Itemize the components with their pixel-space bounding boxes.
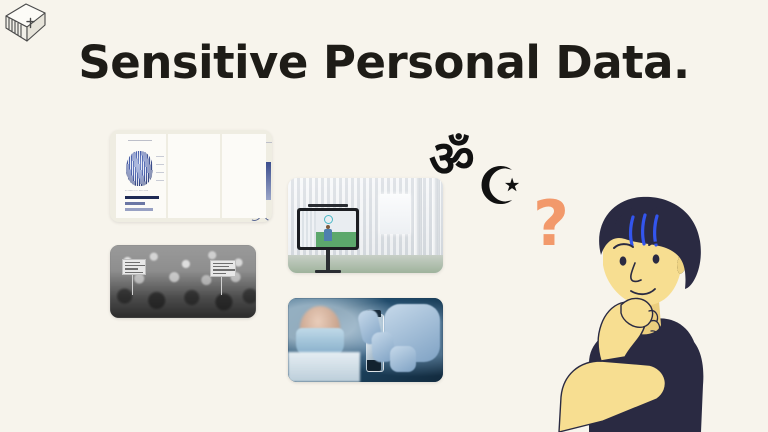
telemedicine-monitor: [297, 208, 359, 250]
biometric-bar: [125, 208, 153, 211]
biometric-bar: [125, 196, 159, 199]
image-telemedicine-room: [288, 178, 443, 273]
image-biometric-dashboard: ID 00092371 • REF 44-A MATCH SCORE 98.4: [110, 130, 272, 222]
biometric-microtext: ID 00092371 • REF 44-A: [125, 190, 161, 192]
gloved-finger: [390, 346, 416, 372]
biometric-panel-left: ID 00092371 • REF 44-A: [116, 134, 166, 218]
slide-canvas: Sensitive Personal Data. ID 00092371 • R…: [0, 0, 768, 432]
monitor-screen: [300, 211, 356, 247]
monitor-top-bar: [308, 204, 348, 207]
monitor-base: [315, 270, 341, 273]
protest-placard: [122, 259, 146, 275]
biometric-bar: [125, 202, 145, 205]
biometric-callout: [156, 172, 164, 173]
protest-placard: [210, 260, 236, 277]
om-icon: ॐ: [429, 134, 475, 184]
fingerprint-graphic-large: [126, 151, 153, 186]
wall-panel: [380, 194, 410, 234]
image-lab-vial: [288, 298, 443, 382]
biometric-callout: [156, 164, 164, 165]
page-title: Sensitive Personal Data.: [0, 36, 768, 89]
star-and-crescent-icon: ☪: [477, 161, 524, 213]
screen-person-body: [324, 229, 332, 241]
thinking-person-illustration: [545, 185, 730, 432]
biometric-vertical-bar: [266, 162, 271, 200]
technician-lab-coat: [288, 352, 360, 382]
screen-status-icon: [324, 215, 333, 224]
room-floor: [288, 255, 443, 273]
biometric-panel-center: MATCH SCORE 98.4: [168, 134, 220, 218]
biometric-callout: [156, 156, 164, 157]
screen-curtain: [300, 211, 316, 247]
biometric-panel-header: [128, 140, 152, 141]
biometric-callout: [156, 180, 164, 181]
biometric-panel-right: Lorem ipsum dolor sit amet consectetur a…: [222, 134, 266, 218]
image-protest-crowd: [110, 245, 256, 318]
